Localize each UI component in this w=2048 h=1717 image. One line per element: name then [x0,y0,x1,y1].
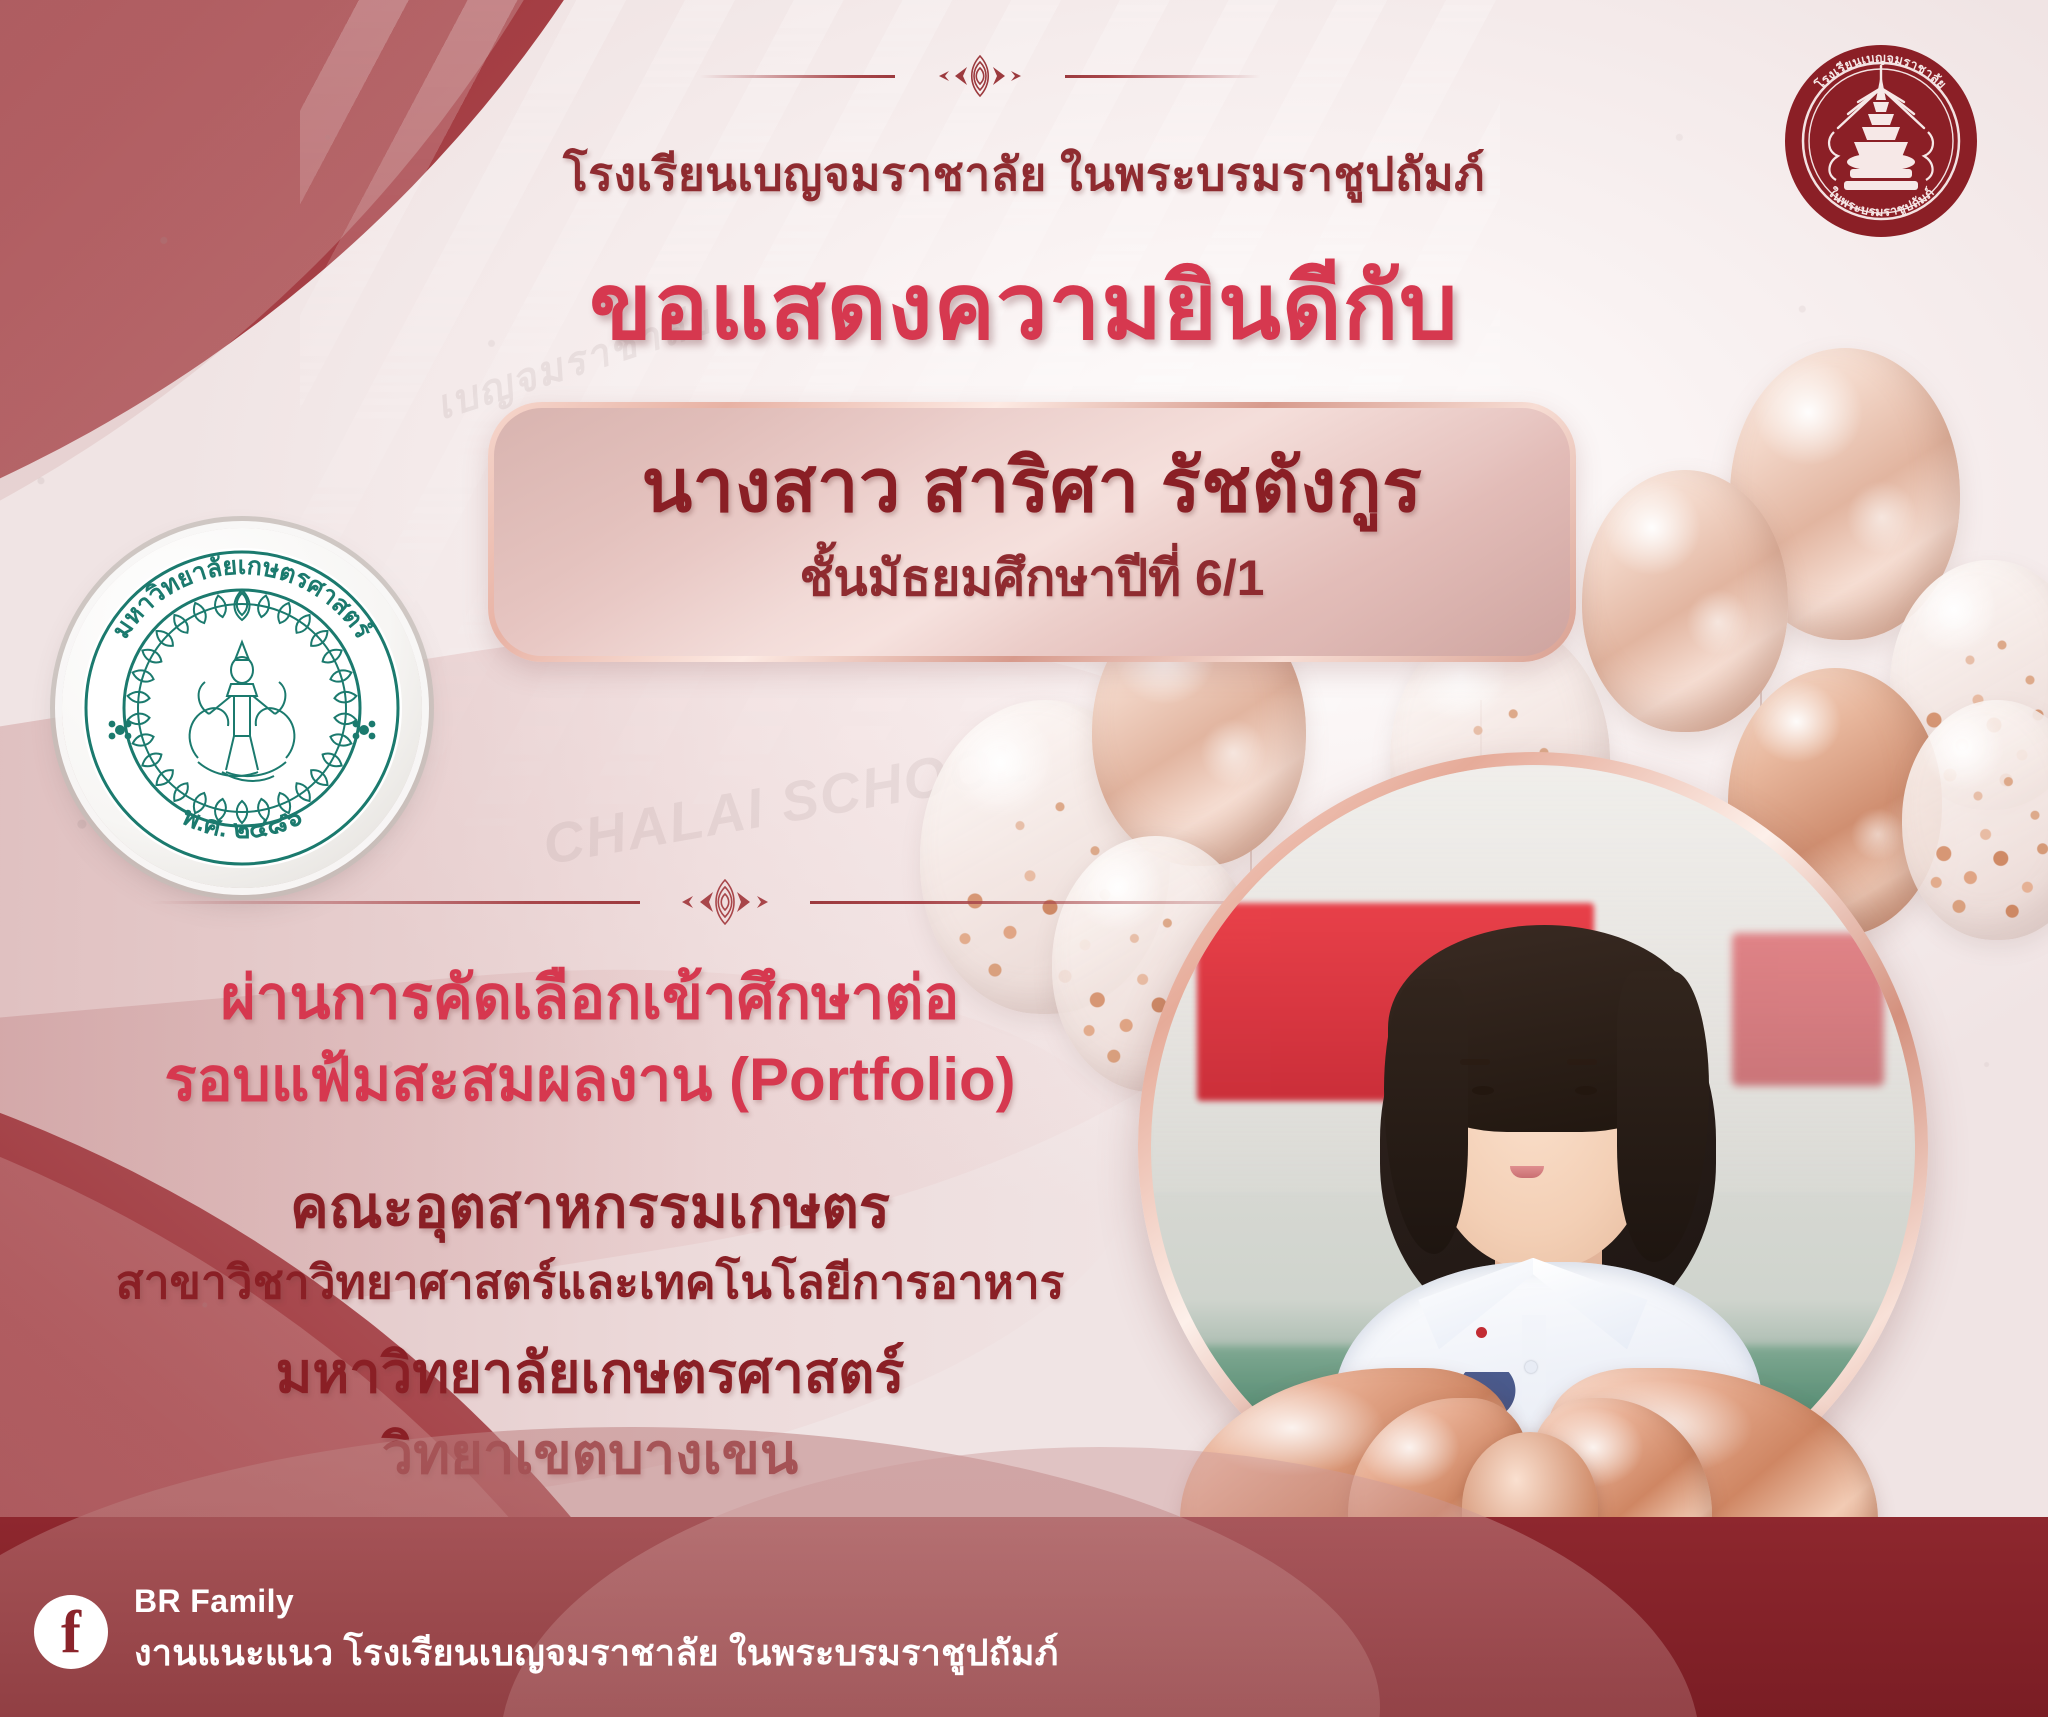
portrait-eyebrow-right [1567,1059,1597,1065]
portrait-shirt-placket [1522,1315,1546,1529]
balloon-rose-gold-2 [1582,470,1788,732]
footer-department: งานแนะแนว โรงเรียนเบญจมราชาลัย ในพระบรมร… [134,1624,1059,1681]
school-name-text: โรงเรียนเบญจมราชาลัย ในพระบรมราชูปถัมภ์ [0,138,2048,211]
university-name: มหาวิทยาลัยเกษตรศาสตร์ [30,1338,1150,1409]
portrait-eye-right [1575,1086,1597,1095]
student-name-plaque: นางสาว สาริศา รัชตังกูร ชั้นมัธยมศึกษาปี… [488,402,1576,662]
portrait-uniform-pin [1476,1327,1487,1338]
balloon-rose-gold-1 [1730,348,1960,640]
portrait-eyebrow-left [1460,1059,1490,1065]
student-photo: บ.ร. [1151,765,1915,1529]
photo-background-banner-2 [1732,933,1885,1086]
ornament-flourish-icon [895,52,1065,100]
confetti-pattern [1902,700,2048,940]
uniform-badge-text: บ.ร. [1445,1414,1487,1449]
achievement-line-1: ผ่านการคัดเลือกเข้าศึกษาต่อ [30,960,1150,1036]
footer-text-group: BR Family งานแนะแนว โรงเรียนเบญจมราชาลัย… [134,1583,1059,1681]
plaque-inner: นางสาว สาริศา รัชตังกูร ชั้นมัธยมศึกษาปี… [494,408,1570,656]
major-name: สาขาวิชาวิทยาศาสตร์และเทคโนโลยีการอาหาร [30,1254,1150,1312]
footer-page-name: BR Family [134,1583,1059,1620]
student-name: นางสาว สาริศา รัชตังกูร [642,446,1423,526]
student-photo-frame: บ.ร. [1138,752,1928,1542]
portrait-eye-left [1472,1086,1494,1095]
ornament-divider-top [700,52,1260,100]
portrait-uniform-emblem [1449,1372,1525,1418]
faculty-name: คณะอุตสาหกรรมเกษตร [30,1171,1150,1244]
ghost-watermark-2: CHALAI SCHOOL [538,728,1034,878]
footer-credit: f BR Family งานแนะแนว โรงเรียนเบญจมราชาล… [34,1583,1059,1681]
congratulations-poster: เบญจมราชาลัย CHALAI SCHOOL [0,0,2048,1717]
ornament-flourish-icon [640,878,810,926]
balloon-confetti-3 [1902,700,2048,940]
achievement-line-2: รอบแฟ้มสะสมผลงาน (Portfolio) [30,1042,1150,1118]
ornament-divider-middle [150,878,1300,926]
achievement-text-block: ผ่านการคัดเลือกเข้าศึกษาต่อ รอบแฟ้มสะสมผ… [30,960,1150,1489]
headline-congratulations: ขอแสดงความยินดีกับ [0,232,2048,379]
facebook-icon[interactable]: f [34,1595,108,1669]
kasetsart-university-seal: มหาวิทยาลัยเกษตรศาสตร์ พ.ศ. ๒๔๘๖ [62,528,422,888]
student-class-level: ชั้นมัธยมศึกษาปีที่ 6/1 [800,539,1265,618]
